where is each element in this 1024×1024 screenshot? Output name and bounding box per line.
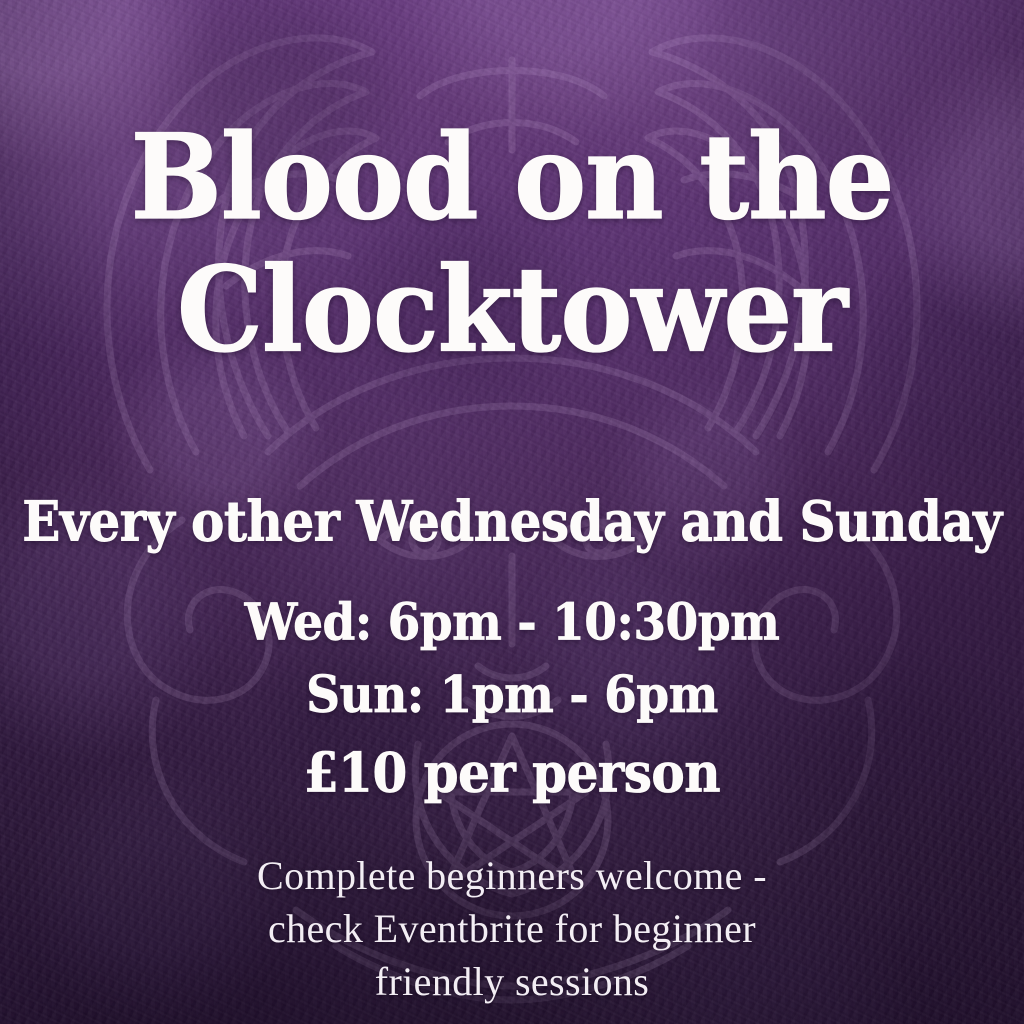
title-line-2: Clocktower (0, 245, 1024, 378)
beginners-note-line-2: check Eventbrite for beginner (257, 903, 767, 956)
session-time-sunday: Sun: 1pm - 6pm (245, 659, 780, 731)
beginners-note-line-1: Complete beginners welcome - (257, 850, 767, 903)
title-line-1: Blood on the (0, 112, 1024, 245)
beginners-note: Complete beginners welcome - check Event… (257, 850, 767, 1008)
poster-content: Blood on the Clocktower Every other Wedn… (0, 0, 1024, 1024)
session-times: Wed: 6pm - 10:30pm Sun: 1pm - 6pm (245, 587, 780, 731)
event-poster: Blood on the Clocktower Every other Wedn… (0, 0, 1024, 1024)
session-time-wednesday: Wed: 6pm - 10:30pm (245, 587, 780, 659)
schedule-subtitle: Every other Wednesday and Sunday (22, 494, 1001, 549)
beginners-note-line-3: friendly sessions (257, 956, 767, 1009)
price-label: £10 per person (304, 746, 720, 800)
page-title: Blood on the Clocktower (0, 112, 1024, 378)
